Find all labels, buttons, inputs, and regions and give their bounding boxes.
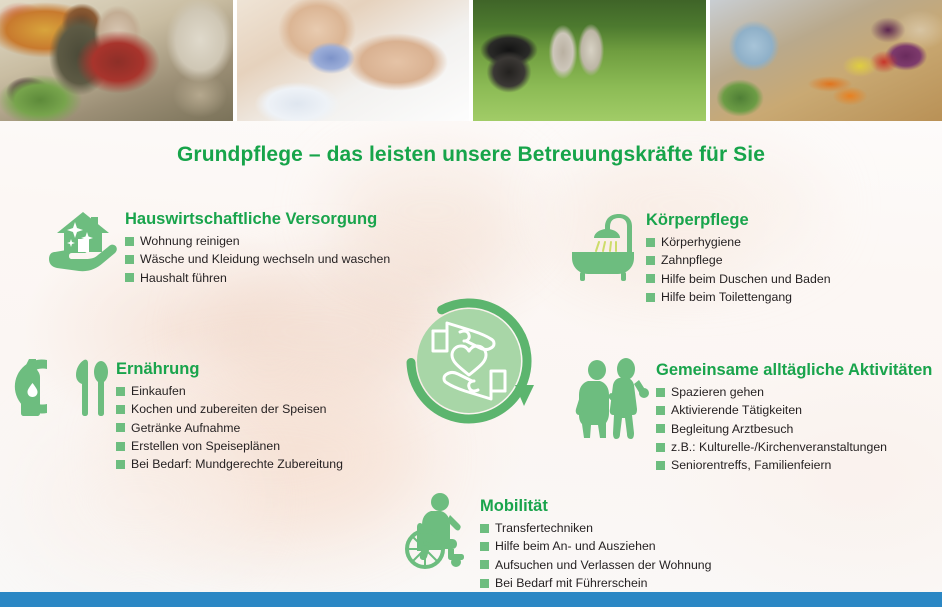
bullet-square-icon xyxy=(656,443,665,452)
section-title: Mobilität xyxy=(480,497,712,516)
list-item-label: Begleitung Arztbesuch xyxy=(671,423,793,435)
photo-park xyxy=(473,0,706,121)
list-item: Zahnpflege xyxy=(646,251,831,269)
page-title: Grundpflege – das leisten unsere Betreuu… xyxy=(0,143,942,167)
section-gemeinsame-alltaegliche-aktivitaeten: Gemeinsame alltägliche Aktivitäten Spazi… xyxy=(571,357,932,474)
section-list: Wohnung reinigen Wäsche und Kleidung wec… xyxy=(125,232,390,287)
list-item: Wäsche und Kleidung wechseln und waschen xyxy=(125,250,390,268)
list-item-label: Hilfe beim An- und Ausziehen xyxy=(495,540,656,552)
bullet-square-icon xyxy=(656,461,665,470)
content-area: Grundpflege – das leisten unsere Betreuu… xyxy=(0,121,942,592)
section-list: Spazieren gehen Aktivierende Tätigkeiten… xyxy=(656,383,932,474)
bullet-square-icon xyxy=(116,423,125,432)
list-item-label: Einkaufen xyxy=(131,385,186,397)
two-people-walking-icon xyxy=(571,357,649,446)
list-item: Wohnung reinigen xyxy=(125,232,390,250)
list-item: Getränke Aufnahme xyxy=(116,419,343,437)
list-item: Körperhygiene xyxy=(646,233,831,251)
photo-strip xyxy=(0,0,942,121)
bullet-square-icon xyxy=(656,424,665,433)
list-item-label: Körperhygiene xyxy=(661,236,741,248)
badge-disc xyxy=(417,309,521,413)
bullet-square-icon xyxy=(125,255,134,264)
list-item-label: Bei Bedarf: Mundgerechte Zubereitung xyxy=(131,458,343,470)
bullet-square-icon xyxy=(116,405,125,414)
list-item-label: Aktivierende Tätigkeiten xyxy=(671,404,802,416)
bullet-square-icon xyxy=(480,524,489,533)
bathtub-shower-icon xyxy=(567,207,639,292)
list-item-label: Wäsche und Kleidung wechseln und waschen xyxy=(140,253,390,265)
list-item: Haushalt führen xyxy=(125,269,390,287)
section-title: Gemeinsame alltägliche Aktivitäten xyxy=(656,361,932,380)
bullet-square-icon xyxy=(116,460,125,469)
list-item: Kochen und zubereiten der Speisen xyxy=(116,400,343,418)
bullet-square-icon xyxy=(480,579,489,588)
photo-groceries xyxy=(0,0,233,121)
bullet-square-icon xyxy=(125,237,134,246)
bullet-square-icon xyxy=(646,293,655,302)
section-body: Hauswirtschaftliche Versorgung Wohnung r… xyxy=(125,206,390,287)
list-item-label: Hilfe beim Duschen und Baden xyxy=(661,273,831,285)
list-item-label: Haushalt führen xyxy=(140,272,227,284)
photo-cooking xyxy=(710,0,942,121)
infographic-page: Grundpflege – das leisten unsere Betreuu… xyxy=(0,0,942,607)
list-item: Seniorentreffs, Familienfeiern xyxy=(656,456,932,474)
list-item: Bei Bedarf: Mundgerechte Zubereitung xyxy=(116,455,343,473)
list-item-label: Aufsuchen und Verlassen der Wohnung xyxy=(495,559,712,571)
list-item-label: Spazieren gehen xyxy=(671,386,764,398)
list-item-label: Getränke Aufnahme xyxy=(131,422,240,434)
section-list: Transfertechniken Hilfe beim An- und Aus… xyxy=(480,519,712,592)
list-item: z.B.: Kulturelle-/Kirchenveranstaltungen xyxy=(656,438,932,456)
bottle-plate-cutlery-icon xyxy=(14,356,109,423)
list-item-label: Transfertechniken xyxy=(495,522,593,534)
wheelchair-user-icon xyxy=(400,493,472,574)
bullet-square-icon xyxy=(480,560,489,569)
section-hauswirtschaftliche-versorgung: Hauswirtschaftliche Versorgung Wohnung r… xyxy=(47,206,390,287)
section-title: Körperpflege xyxy=(646,211,831,230)
center-badge xyxy=(403,293,539,429)
section-body: Gemeinsame alltägliche Aktivitäten Spazi… xyxy=(656,357,932,474)
list-item: Hilfe beim Duschen und Baden xyxy=(646,270,831,288)
bullet-square-icon xyxy=(656,388,665,397)
list-item-label: Zahnpflege xyxy=(661,254,723,266)
section-mobilitaet: Mobilität Transfertechniken Hilfe beim A… xyxy=(400,493,712,592)
list-item-label: Hilfe beim Toilettengang xyxy=(661,291,792,303)
bullet-square-icon xyxy=(480,542,489,551)
list-item-label: z.B.: Kulturelle-/Kirchenveranstaltungen xyxy=(671,441,887,453)
bullet-square-icon xyxy=(116,387,125,396)
list-item-label: Seniorentreffs, Familienfeiern xyxy=(671,459,831,471)
list-item-label: Erstellen von Speiseplänen xyxy=(131,440,280,452)
bullet-square-icon xyxy=(116,442,125,451)
section-body: Körperpflege Körperhygiene Zahnpflege Hi… xyxy=(646,207,831,306)
section-title: Ernährung xyxy=(116,360,343,379)
section-list: Körperhygiene Zahnpflege Hilfe beim Dusc… xyxy=(646,233,831,306)
list-item: Transfertechniken xyxy=(480,519,712,537)
list-item: Erstellen von Speiseplänen xyxy=(116,437,343,455)
bullet-square-icon xyxy=(656,406,665,415)
photo-care xyxy=(237,0,470,121)
list-item: Aktivierende Tätigkeiten xyxy=(656,401,932,419)
list-item: Aufsuchen und Verlassen der Wohnung xyxy=(480,556,712,574)
list-item-label: Kochen und zubereiten der Speisen xyxy=(131,403,327,415)
section-body: Mobilität Transfertechniken Hilfe beim A… xyxy=(480,493,712,592)
bullet-square-icon xyxy=(125,273,134,282)
house-in-hand-icon xyxy=(47,206,119,279)
section-koerperpflege: Körperpflege Körperhygiene Zahnpflege Hi… xyxy=(567,207,831,306)
list-item: Einkaufen xyxy=(116,382,343,400)
list-item: Spazieren gehen xyxy=(656,383,932,401)
list-item: Begleitung Arztbesuch xyxy=(656,420,932,438)
section-ernaehrung: Ernährung Einkaufen Kochen und zubereite… xyxy=(14,356,343,473)
section-title: Hauswirtschaftliche Versorgung xyxy=(125,210,390,229)
list-item: Bei Bedarf mit Führerschein xyxy=(480,574,712,592)
list-item: Hilfe beim An- und Ausziehen xyxy=(480,537,712,555)
bullet-square-icon xyxy=(646,238,655,247)
list-item-label: Wohnung reinigen xyxy=(140,235,240,247)
section-body: Ernährung Einkaufen Kochen und zubereite… xyxy=(116,356,343,473)
bullet-square-icon xyxy=(646,274,655,283)
bullet-square-icon xyxy=(646,256,655,265)
list-item: Hilfe beim Toilettengang xyxy=(646,288,831,306)
bottom-accent-bar xyxy=(0,592,942,607)
section-list: Einkaufen Kochen und zubereiten der Spei… xyxy=(116,382,343,473)
list-item-label: Bei Bedarf mit Führerschein xyxy=(495,577,647,589)
